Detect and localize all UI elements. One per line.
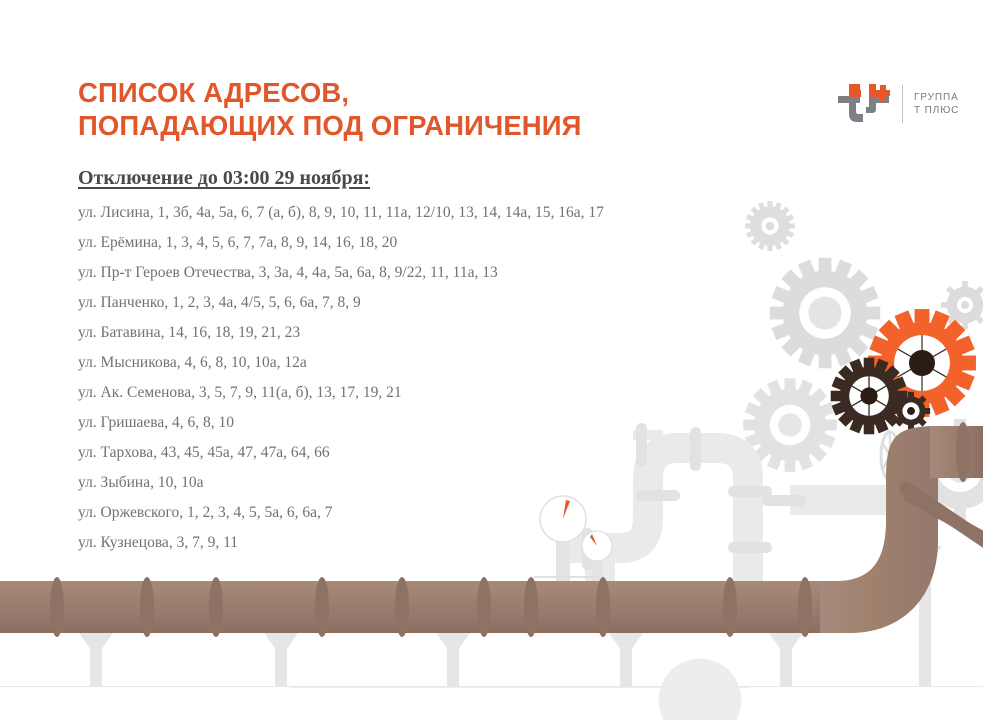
logo-divider: [902, 85, 903, 123]
pipe-support: [436, 633, 470, 687]
pipe-support: [769, 633, 803, 687]
list-item: ул. Ак. Семенова, 3, 5, 7, 9, 11(а, б), …: [78, 378, 778, 408]
title-line-2: ПОПАДАЮЩИХ ПОД ОГРАНИЧЕНИЯ: [78, 109, 718, 142]
address-list: ул. Лисина, 1, 3б, 4а, 5а, 6, 7 (а, б), …: [78, 198, 778, 558]
orange-gear: [868, 309, 976, 417]
ground-line-inner: [290, 687, 750, 688]
pipe-flange-diagonal: [903, 483, 983, 560]
list-item: ул. Тархова, 43, 45, 45а, 47, 47а, 64, 6…: [78, 438, 778, 468]
list-item: ул. Оржевского, 1, 2, 3, 4, 5, 5а, 6, 6а…: [78, 498, 778, 528]
list-item: ул. Зыбина, 10, 10а: [78, 468, 778, 498]
list-item: ул. Мысникова, 4, 6, 8, 10, 10а, 12а: [78, 348, 778, 378]
pipe-support-tall: [908, 546, 942, 687]
small-dark-gear: [892, 392, 930, 430]
title-line-1: СПИСОК АДРЕСОВ,: [78, 76, 718, 109]
pipe-flange-upper: [956, 422, 970, 482]
dark-gear: [831, 358, 908, 435]
list-item: ул. Пр-т Героев Отечества, 3, 3а, 4, 4а,…: [78, 258, 778, 288]
valve-wheel-assembly: [881, 432, 941, 492]
logo-word-line-2: Т ПЛЮС: [914, 104, 959, 117]
list-item: ул. Кузнецова, 3, 7, 9, 11: [78, 528, 778, 558]
pipe-support: [264, 633, 298, 687]
slide-canvas: СПИСОК АДРЕСОВ, ПОПАДАЮЩИХ ПОД ОГРАНИЧЕН…: [0, 0, 983, 720]
page-title: СПИСОК АДРЕСОВ, ПОПАДАЮЩИХ ПОД ОГРАНИЧЕН…: [78, 76, 718, 142]
list-item: ул. Ерёмина, 1, 3, 4, 5, 6, 7, 7а, 8, 9,…: [78, 228, 778, 258]
list-item: ул. Панченко, 1, 2, 3, 4а, 4/5, 5, 6, 6а…: [78, 288, 778, 318]
logo-word-line-1: ГРУППА: [914, 91, 959, 104]
logo-wordmark: ГРУППА Т ПЛЮС: [914, 91, 959, 117]
pipe-support: [609, 633, 643, 687]
pipe-flanges: [50, 577, 812, 637]
pipe-support: [79, 633, 113, 687]
pipe-supports: [79, 546, 942, 687]
list-item: ул. Гришаева, 4, 6, 8, 10: [78, 408, 778, 438]
t-plus-logo-mark: [832, 79, 894, 129]
list-item: ул. Батавина, 14, 16, 18, 19, 21, 23: [78, 318, 778, 348]
t-plus-logo[interactable]: ГРУППА Т ПЛЮС: [832, 76, 982, 132]
list-item: ул. Лисина, 1, 3б, 4а, 5а, 6, 7 (а, б), …: [78, 198, 778, 228]
outage-subtitle: Отключение до 03:00 29 ноября:: [78, 166, 370, 190]
